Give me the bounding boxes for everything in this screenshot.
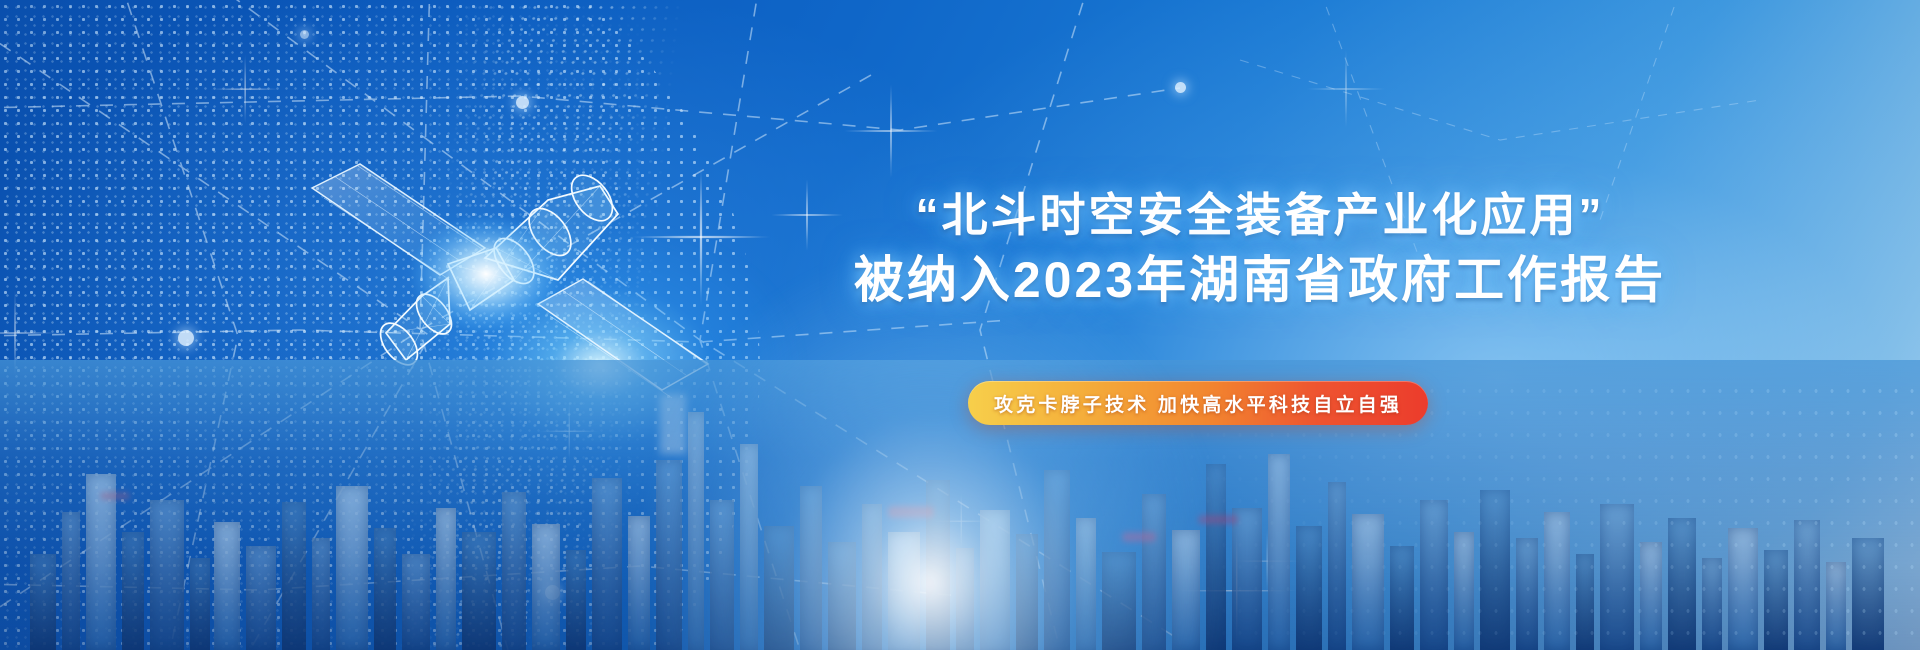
headline-line-1: “北斗时空安全装备产业化应用”: [820, 186, 1700, 244]
headline-line-2: 被纳入2023年湖南省政府工作报告: [820, 248, 1700, 312]
headline-block: “北斗时空安全装备产业化应用” 被纳入2023年湖南省政府工作报告: [820, 186, 1700, 312]
slogan-pill[interactable]: 攻克卡脖子技术 加快高水平科技自立自强: [968, 381, 1428, 425]
slogan-text: 攻克卡脖子技术 加快高水平科技自立自强: [994, 390, 1402, 417]
banner-hero: “北斗时空安全装备产业化应用” 被纳入2023年湖南省政府工作报告 攻克卡脖子技…: [0, 0, 1920, 650]
